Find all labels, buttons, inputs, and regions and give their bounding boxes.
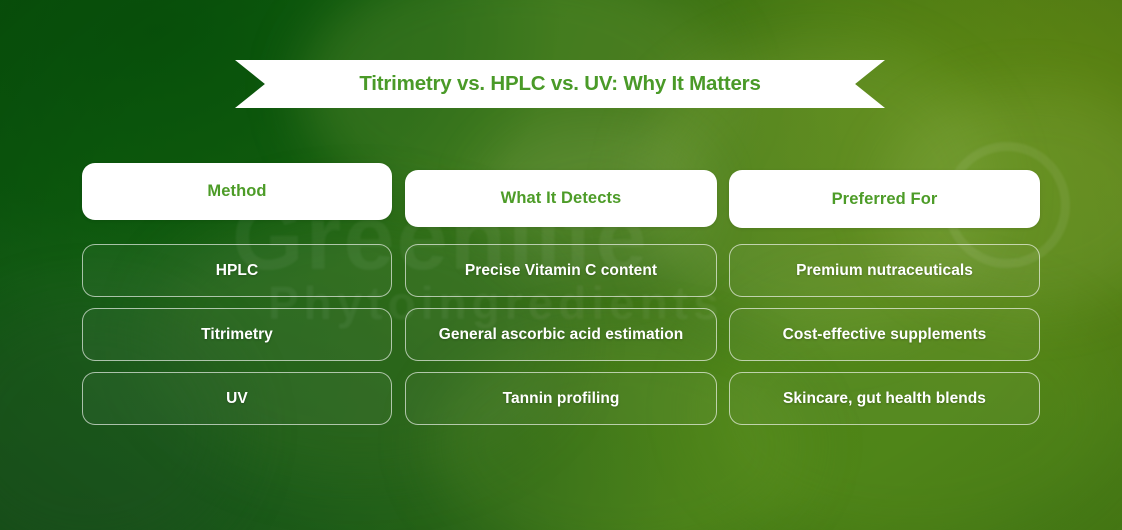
table-cell-detects: Tannin profiling (405, 372, 717, 425)
cell-value: UV (226, 390, 248, 408)
table-cell-method: UV (82, 372, 392, 425)
table-cell-preferred-for: Cost-effective supplements (729, 308, 1040, 361)
cell-value: Precise Vitamin C content (465, 262, 657, 280)
cell-value: HPLC (216, 262, 258, 280)
page-title: Titrimetry vs. HPLC vs. UV: Why It Matte… (359, 72, 760, 96)
table-cell-detects: General ascorbic acid estimation (405, 308, 717, 361)
table-row: Titrimetry General ascorbic acid estimat… (82, 308, 1040, 361)
table-row: HPLC Precise Vitamin C content Premium n… (82, 244, 1040, 297)
column-header-label: What It Detects (501, 189, 622, 208)
cell-value: Titrimetry (201, 326, 273, 344)
cell-value: General ascorbic acid estimation (439, 326, 684, 344)
table-cell-detects: Precise Vitamin C content (405, 244, 717, 297)
cell-value: Tannin profiling (503, 390, 620, 408)
column-header-what-it-detects: What It Detects (405, 170, 717, 227)
cell-value: Skincare, gut health blends (783, 390, 986, 408)
cell-value: Cost-effective supplements (783, 326, 987, 344)
title-ribbon-banner: Titrimetry vs. HPLC vs. UV: Why It Matte… (235, 60, 885, 108)
table-cell-preferred-for: Skincare, gut health blends (729, 372, 1040, 425)
column-header-label: Preferred For (832, 190, 938, 209)
table-row: UV Tannin profiling Skincare, gut health… (82, 372, 1040, 425)
table-cell-preferred-for: Premium nutraceuticals (729, 244, 1040, 297)
table-cell-method: HPLC (82, 244, 392, 297)
table-header-row: Method What It Detects Preferred For (82, 160, 1040, 228)
comparison-table: Method What It Detects Preferred For HPL… (82, 160, 1040, 425)
column-header-label: Method (207, 182, 266, 201)
cell-value: Premium nutraceuticals (796, 262, 973, 280)
table-cell-method: Titrimetry (82, 308, 392, 361)
infographic-canvas: Greenlife Phytoingredients Titrimetry vs… (0, 0, 1122, 530)
column-header-preferred-for: Preferred For (729, 170, 1040, 228)
column-header-method: Method (82, 163, 392, 220)
